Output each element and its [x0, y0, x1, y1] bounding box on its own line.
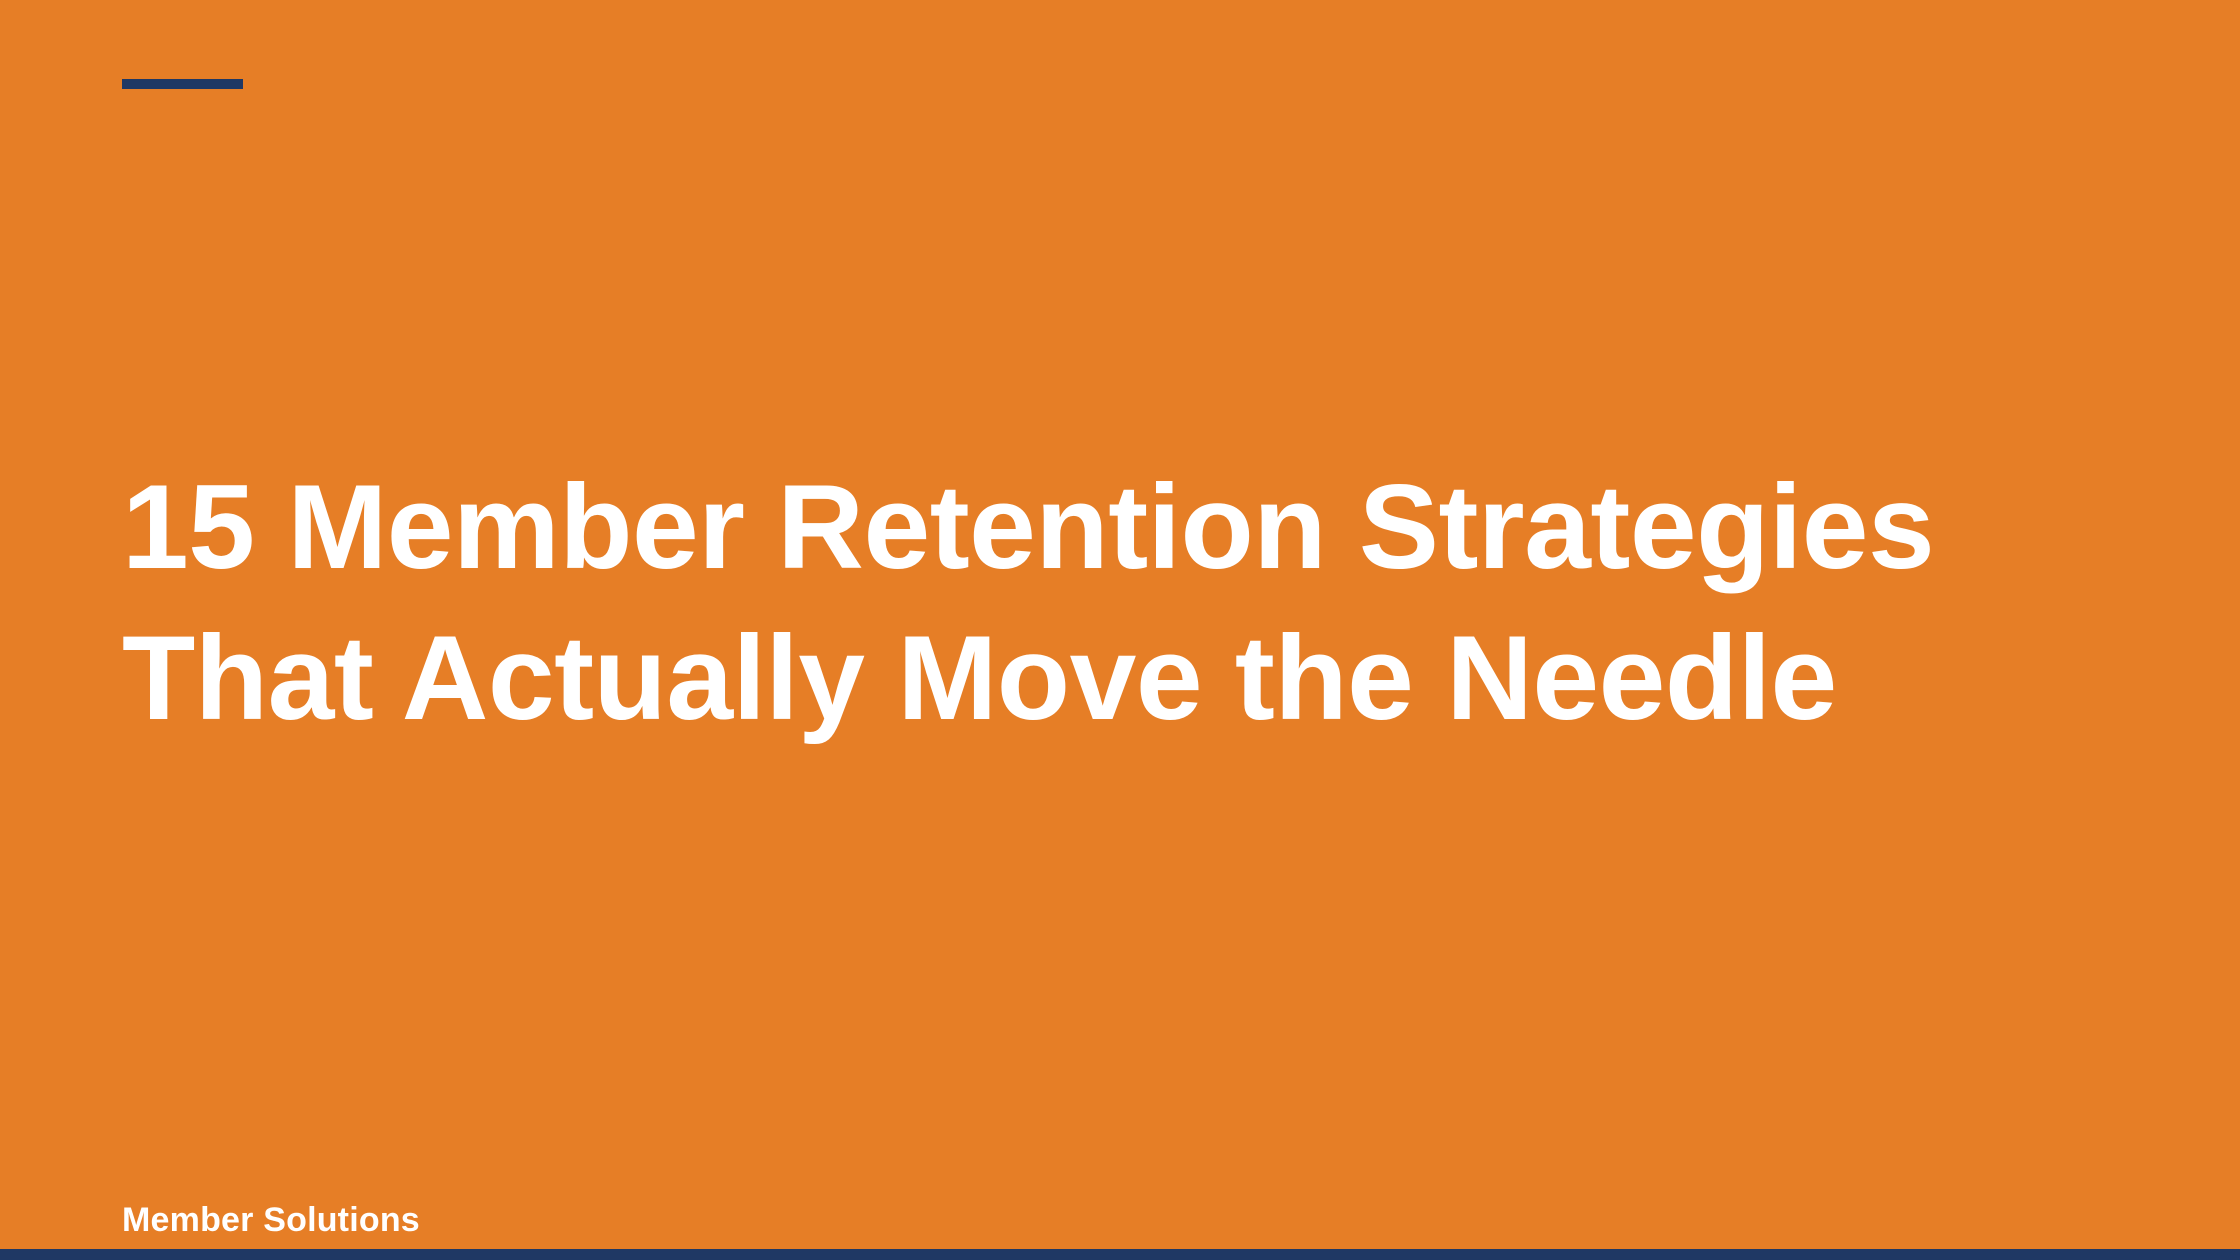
title-block: 15 Member Retention Strategies That Actu… — [122, 452, 2082, 754]
accent-rule-icon — [122, 79, 243, 89]
page-title: 15 Member Retention Strategies That Actu… — [122, 452, 2082, 754]
bottom-band-divider — [0, 1249, 2240, 1260]
title-slide: 15 Member Retention Strategies That Actu… — [0, 0, 2240, 1260]
footer-brand-label: Member Solutions — [122, 1200, 420, 1240]
